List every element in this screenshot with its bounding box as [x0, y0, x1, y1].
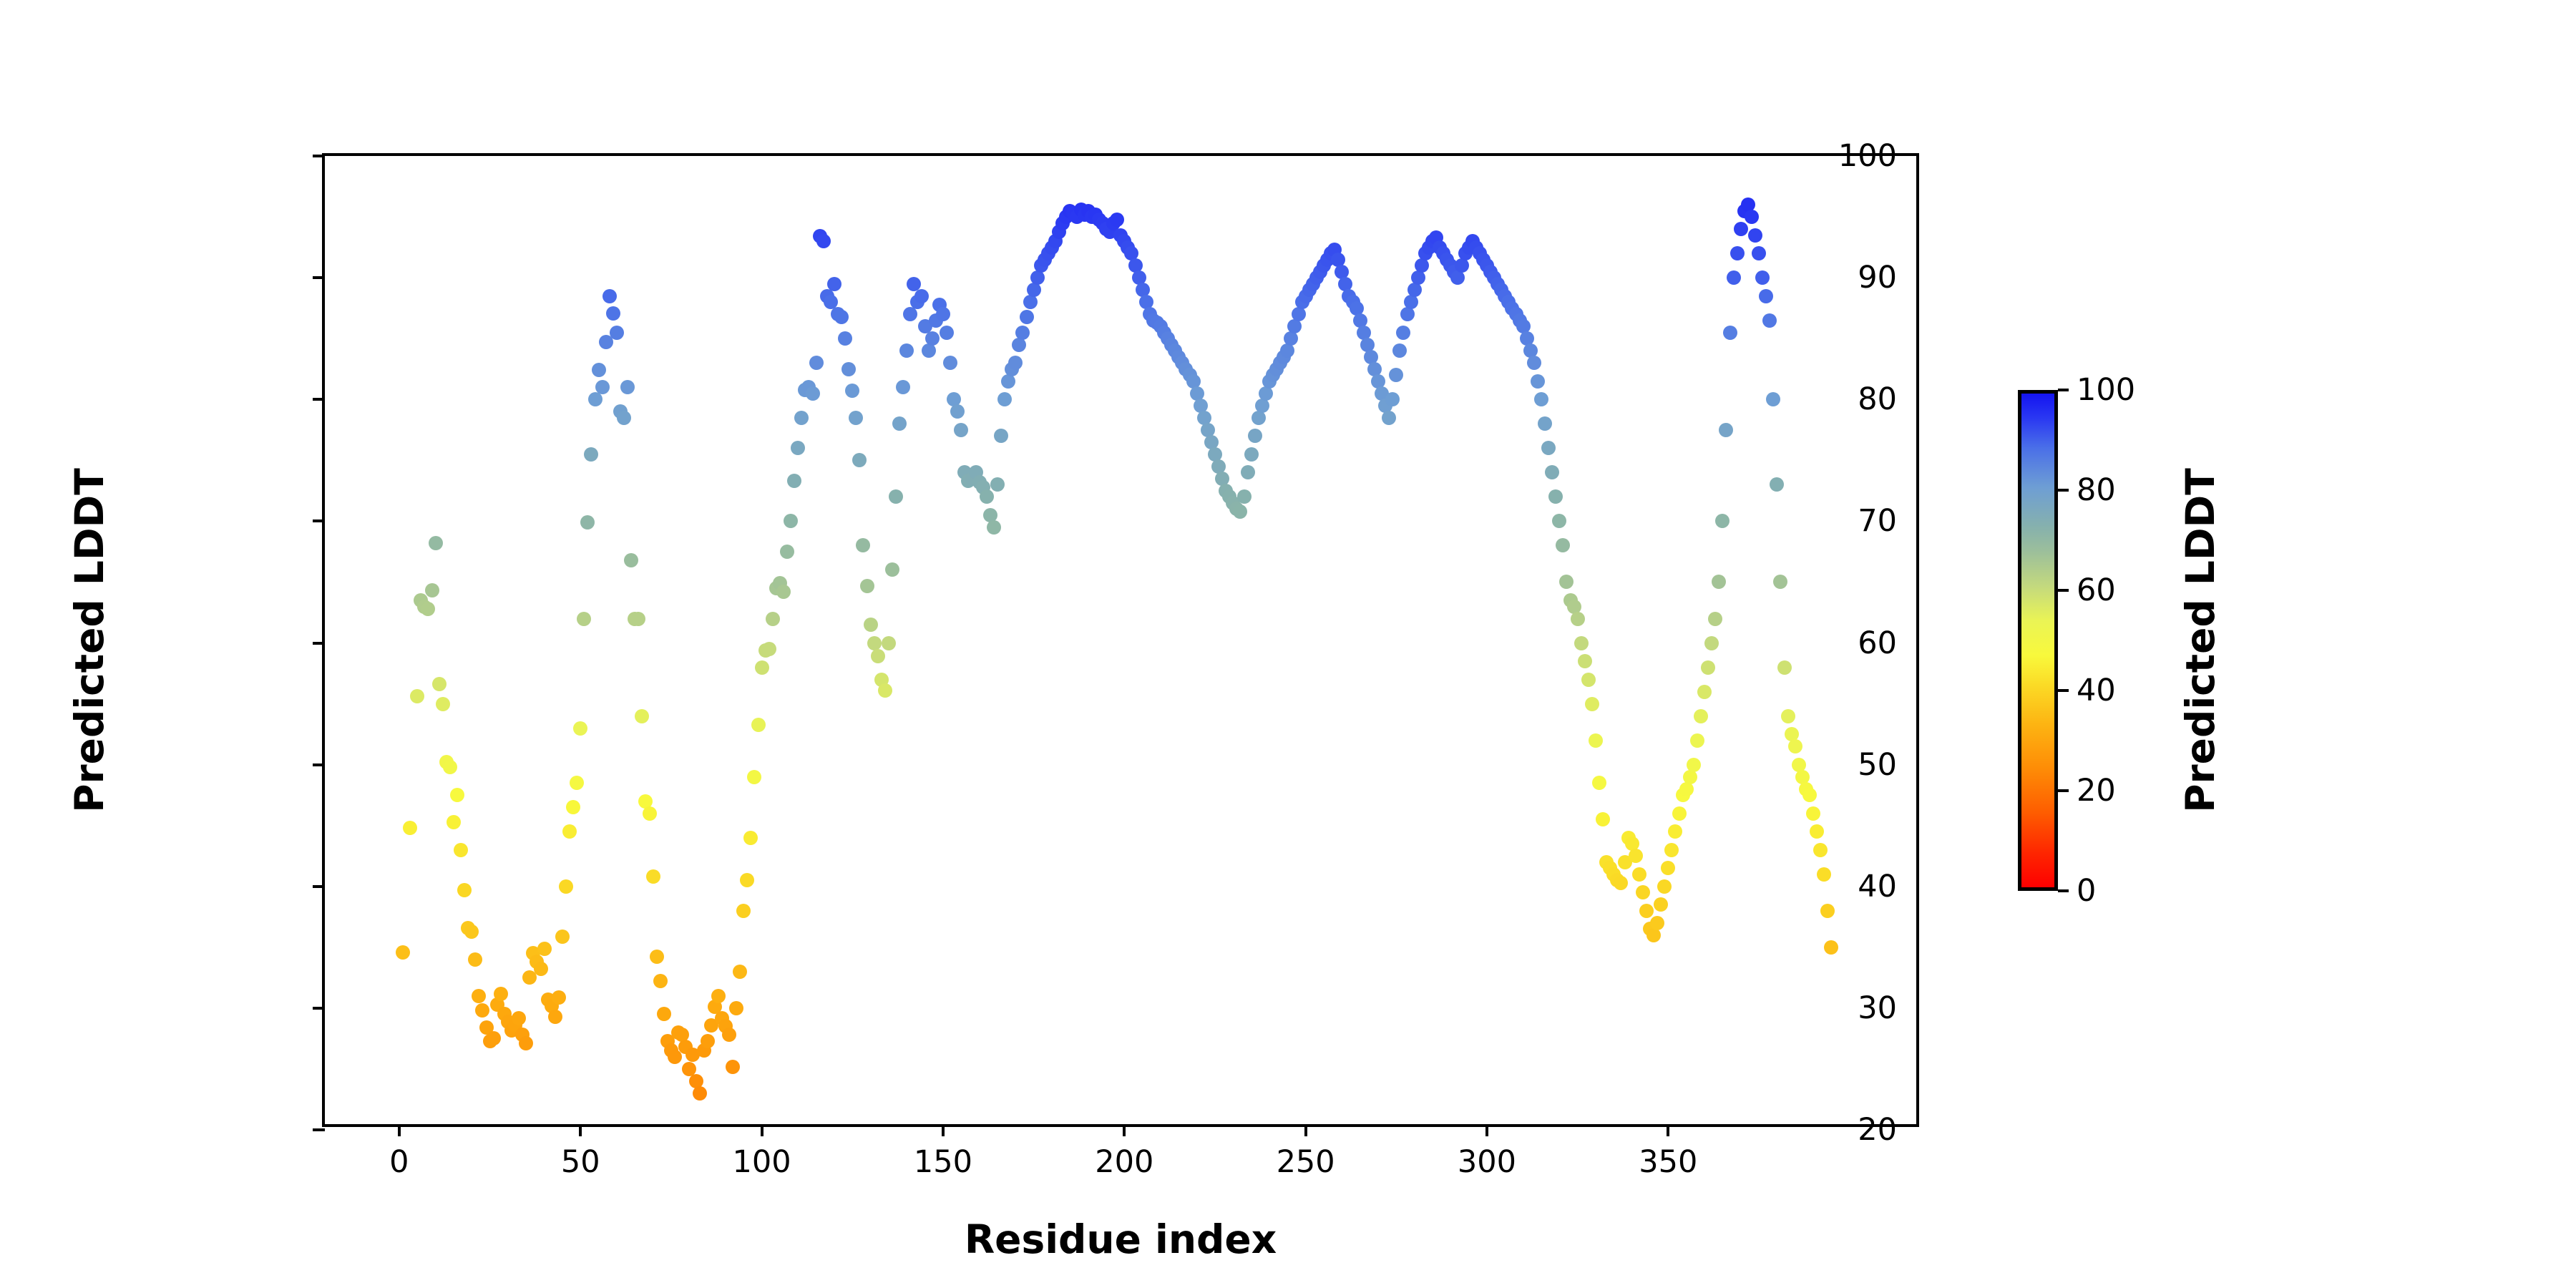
data-point: [743, 831, 758, 845]
x-tick-label: 50: [561, 1144, 600, 1180]
data-point: [1661, 861, 1675, 875]
data-point: [1450, 270, 1465, 285]
data-point: [573, 721, 587, 736]
data-point: [1614, 876, 1628, 890]
x-axis-label: Residue index: [322, 1216, 1919, 1262]
data-point: [1697, 685, 1712, 699]
data-point: [1534, 392, 1548, 406]
data-point: [1020, 310, 1034, 324]
y-tick-label: 50: [1858, 747, 1897, 783]
data-point: [1287, 319, 1302, 333]
data-point: [871, 649, 885, 663]
data-point: [791, 441, 805, 455]
data-point: [816, 234, 831, 248]
data-point: [1252, 411, 1266, 425]
data-point: [1559, 575, 1574, 589]
x-tick-mark: [579, 1124, 582, 1136]
data-point: [762, 642, 776, 656]
colorbar-tick-label: 20: [2077, 773, 2116, 809]
data-point: [882, 636, 896, 650]
data-point: [726, 1060, 740, 1074]
data-point: [1552, 514, 1566, 528]
data-point: [447, 815, 461, 829]
data-point: [1255, 399, 1269, 413]
data-point: [1719, 423, 1733, 437]
data-point: [903, 307, 917, 321]
data-point: [1629, 849, 1643, 863]
data-point: [1694, 709, 1708, 723]
y-tick-label: 90: [1858, 260, 1897, 296]
y-tick-mark: [313, 155, 325, 157]
data-point: [1556, 538, 1570, 552]
data-point: [867, 636, 882, 650]
data-point: [519, 1036, 533, 1050]
data-point: [852, 453, 867, 467]
data-point: [1001, 374, 1015, 389]
colorbar-tick-mark: [2058, 389, 2069, 391]
y-tick-mark: [313, 885, 325, 888]
data-point: [487, 1031, 501, 1045]
data-point: [1385, 392, 1400, 406]
data-point: [396, 945, 410, 960]
data-point: [896, 380, 910, 394]
data-point: [1817, 867, 1831, 882]
data-point: [776, 585, 791, 599]
data-point: [722, 1028, 736, 1042]
data-point: [1650, 916, 1664, 930]
y-tick-label: 20: [1858, 1112, 1897, 1148]
data-point: [1015, 326, 1030, 340]
data-point: [624, 553, 638, 567]
data-point: [1708, 612, 1722, 626]
data-point: [736, 904, 751, 918]
data-point: [1415, 258, 1429, 273]
data-point: [1683, 770, 1697, 784]
data-point: [552, 990, 566, 1005]
data-point: [1455, 258, 1469, 273]
data-point: [425, 583, 439, 597]
data-point: [1687, 758, 1701, 772]
data-point: [1541, 441, 1556, 455]
data-point: [1672, 806, 1687, 821]
data-point: [856, 538, 870, 552]
y-axis-label: Predicted LDDT: [68, 153, 111, 1127]
data-point: [1766, 392, 1780, 406]
data-point: [1777, 660, 1792, 675]
data-point: [1589, 733, 1603, 748]
data-point: [1810, 824, 1824, 839]
data-point: [436, 697, 450, 711]
data-point: [1824, 940, 1838, 955]
data-point: [733, 965, 747, 979]
data-point: [1574, 636, 1589, 650]
data-point: [472, 989, 486, 1003]
x-tick-label: 150: [914, 1144, 972, 1180]
colorbar-tick-label: 60: [2077, 572, 2116, 608]
data-point: [740, 873, 754, 887]
data-point: [1704, 636, 1719, 650]
data-point: [845, 384, 859, 398]
data-point: [693, 1086, 707, 1101]
scatter-plot-area: [325, 156, 1916, 1124]
data-point: [1531, 374, 1545, 389]
colorbar-tick-label: 0: [2077, 873, 2096, 909]
data-point: [1802, 788, 1817, 802]
data-point: [432, 677, 447, 691]
data-point: [780, 545, 794, 559]
data-point: [1592, 776, 1606, 790]
y-tick-mark: [313, 519, 325, 522]
x-tick-label: 350: [1639, 1144, 1697, 1180]
data-point: [588, 392, 602, 406]
colorbar-tick-label: 40: [2077, 673, 2116, 708]
data-point: [922, 343, 936, 358]
data-point: [1770, 477, 1784, 492]
colorbar-tick-label: 80: [2077, 472, 2116, 508]
data-point: [1248, 429, 1262, 443]
data-point: [475, 1003, 489, 1018]
data-point: [1715, 514, 1729, 528]
data-point: [1233, 504, 1247, 519]
data-point: [997, 392, 1012, 406]
data-point: [1654, 897, 1668, 912]
data-point: [443, 760, 457, 774]
data-point: [1788, 739, 1802, 753]
data-point: [1407, 283, 1422, 297]
data-point: [1241, 465, 1255, 479]
data-point: [751, 718, 766, 732]
data-point: [784, 514, 798, 528]
colorbar-tick-label: 100: [2077, 372, 2135, 408]
data-point: [584, 447, 598, 462]
colorbar-tick-mark: [2058, 889, 2069, 892]
figure-canvas: 2030405060708090100 05010015020025030035…: [0, 0, 2576, 1288]
data-point: [1411, 270, 1425, 285]
data-point: [1723, 326, 1737, 340]
data-point: [562, 824, 577, 839]
data-point: [1813, 843, 1828, 857]
data-point: [1727, 270, 1741, 285]
data-point: [1585, 697, 1599, 711]
data-point: [429, 536, 443, 550]
data-point: [1027, 283, 1041, 297]
data-point: [1762, 313, 1777, 328]
data-point: [849, 411, 863, 425]
data-point: [980, 489, 994, 504]
data-point: [450, 788, 464, 802]
data-point: [1578, 654, 1592, 668]
y-tick-label: 60: [1858, 625, 1897, 661]
data-point: [892, 416, 907, 431]
data-point: [936, 307, 950, 321]
y-tick-mark: [313, 763, 325, 766]
data-point: [711, 989, 726, 1003]
data-point: [403, 821, 417, 835]
x-tick-label: 300: [1458, 1144, 1516, 1180]
data-point: [1284, 331, 1298, 346]
data-point: [950, 404, 965, 419]
x-tick-mark: [761, 1124, 763, 1136]
data-point: [1030, 270, 1045, 285]
data-point: [954, 423, 968, 437]
data-point: [1581, 673, 1596, 687]
data-point: [994, 429, 1008, 443]
data-point: [1571, 612, 1585, 626]
data-point: [899, 343, 914, 358]
data-point: [834, 310, 849, 324]
data-point: [755, 660, 769, 675]
data-point: [806, 386, 820, 401]
data-point: [512, 1011, 526, 1025]
data-point: [555, 930, 570, 944]
data-point: [537, 942, 552, 956]
data-point: [1755, 270, 1770, 285]
data-point: [794, 411, 809, 425]
data-point: [646, 869, 660, 884]
data-point: [620, 380, 635, 394]
data-point: [606, 306, 620, 321]
colorbar-container: 020406080100: [2018, 390, 2058, 891]
data-point: [940, 326, 954, 340]
data-point: [580, 515, 595, 530]
y-tick-label: 40: [1858, 869, 1897, 904]
y-tick-mark: [313, 1128, 325, 1131]
x-tick-mark: [1485, 1124, 1488, 1136]
x-tick-mark: [1123, 1124, 1126, 1136]
data-point: [914, 289, 929, 303]
data-point: [864, 618, 878, 632]
data-point: [1820, 904, 1835, 918]
data-point: [610, 326, 624, 340]
x-tick-mark: [398, 1124, 401, 1136]
data-point: [766, 612, 780, 626]
data-point: [1759, 289, 1773, 303]
data-point: [1382, 411, 1396, 425]
data-point: [421, 602, 435, 616]
data-point: [1664, 843, 1679, 857]
data-point: [464, 924, 479, 939]
data-point: [1701, 660, 1715, 675]
data-point: [1596, 812, 1610, 826]
data-point: [1548, 489, 1563, 504]
data-point: [457, 883, 472, 897]
data-point: [1632, 867, 1646, 882]
data-point: [1748, 228, 1762, 243]
data-point: [1023, 295, 1038, 309]
data-point: [1646, 928, 1661, 942]
x-tick-label: 200: [1095, 1144, 1153, 1180]
data-point: [1110, 213, 1124, 227]
y-tick-mark: [313, 1007, 325, 1010]
data-point: [570, 776, 584, 790]
data-point: [925, 331, 940, 346]
data-point: [577, 612, 591, 626]
data-point: [990, 477, 1005, 492]
y-tick-label: 100: [1838, 138, 1897, 174]
data-point: [559, 879, 573, 894]
data-point: [602, 289, 617, 303]
data-point: [1657, 879, 1672, 894]
data-point: [1668, 824, 1682, 839]
data-point: [643, 806, 657, 821]
data-point: [1389, 368, 1403, 382]
data-point: [1752, 246, 1766, 260]
data-point: [1012, 338, 1026, 352]
y-tick-mark: [313, 276, 325, 279]
y-tick-label: 70: [1858, 503, 1897, 539]
data-point: [841, 362, 856, 376]
data-point: [787, 474, 801, 488]
data-point: [468, 952, 482, 967]
colorbar-tick-mark: [2058, 789, 2069, 792]
colorbar-label: Predicted LDDT: [2179, 390, 2222, 891]
data-point: [1734, 222, 1748, 236]
data-point: [1392, 343, 1407, 358]
data-point: [653, 974, 668, 988]
data-point: [1292, 307, 1306, 321]
data-point: [701, 1034, 715, 1048]
data-point: [827, 277, 841, 291]
y-tick-mark: [313, 642, 325, 645]
data-point: [1545, 465, 1559, 479]
data-point: [1244, 447, 1259, 462]
data-point: [548, 1010, 562, 1024]
colorbar-label-text: Predicted LDDT: [2177, 468, 2223, 813]
data-point: [631, 612, 645, 626]
x-tick-mark: [1667, 1124, 1669, 1136]
data-point: [838, 331, 852, 346]
data-point: [657, 1007, 671, 1021]
colorbar-gradient: [2018, 390, 2058, 891]
y-tick-mark: [313, 398, 325, 401]
data-point: [878, 683, 892, 698]
colorbar-tick-mark: [2058, 589, 2069, 592]
y-tick-label: 80: [1858, 381, 1897, 417]
data-point: [566, 800, 580, 814]
data-point: [889, 489, 903, 504]
y-axis-label-text: Predicted LDDT: [67, 468, 112, 813]
data-point: [534, 962, 548, 976]
data-point: [1679, 782, 1694, 796]
plot-axes: 2030405060708090100 05010015020025030035…: [322, 153, 1919, 1127]
data-point: [809, 356, 824, 370]
data-point: [1404, 295, 1418, 309]
data-point: [592, 363, 606, 377]
data-point: [1400, 307, 1415, 321]
data-point: [1636, 885, 1650, 899]
data-point: [617, 411, 631, 425]
data-point: [1781, 709, 1795, 723]
x-tick-label: 0: [389, 1144, 409, 1180]
x-tick-label: 250: [1277, 1144, 1335, 1180]
data-point: [1639, 904, 1654, 918]
x-tick-label: 100: [733, 1144, 791, 1180]
data-point: [410, 689, 424, 703]
data-point: [943, 356, 957, 370]
colorbar-tick-mark: [2058, 689, 2069, 692]
data-point: [1396, 326, 1410, 340]
data-point: [1259, 386, 1273, 401]
data-point: [1008, 356, 1023, 370]
data-point: [1527, 356, 1541, 370]
data-point: [987, 520, 1001, 535]
y-tick-label: 30: [1858, 990, 1897, 1026]
data-point: [1745, 210, 1759, 224]
data-point: [1730, 246, 1745, 260]
data-point: [1237, 489, 1252, 504]
data-point: [1538, 416, 1552, 431]
colorbar-tick-mark: [2058, 489, 2069, 492]
data-point: [650, 950, 664, 964]
data-point: [1280, 343, 1294, 358]
x-tick-mark: [1304, 1124, 1307, 1136]
data-point: [1773, 575, 1787, 589]
data-point: [635, 709, 649, 723]
data-point: [860, 579, 874, 593]
data-point: [747, 770, 761, 784]
data-point: [454, 843, 468, 857]
data-point: [494, 987, 508, 1001]
data-point: [1712, 575, 1726, 589]
data-point: [1690, 733, 1704, 748]
data-point: [1806, 806, 1820, 821]
data-point: [729, 1001, 743, 1015]
x-tick-mark: [942, 1124, 945, 1136]
data-point: [595, 380, 610, 394]
data-point: [885, 562, 899, 577]
